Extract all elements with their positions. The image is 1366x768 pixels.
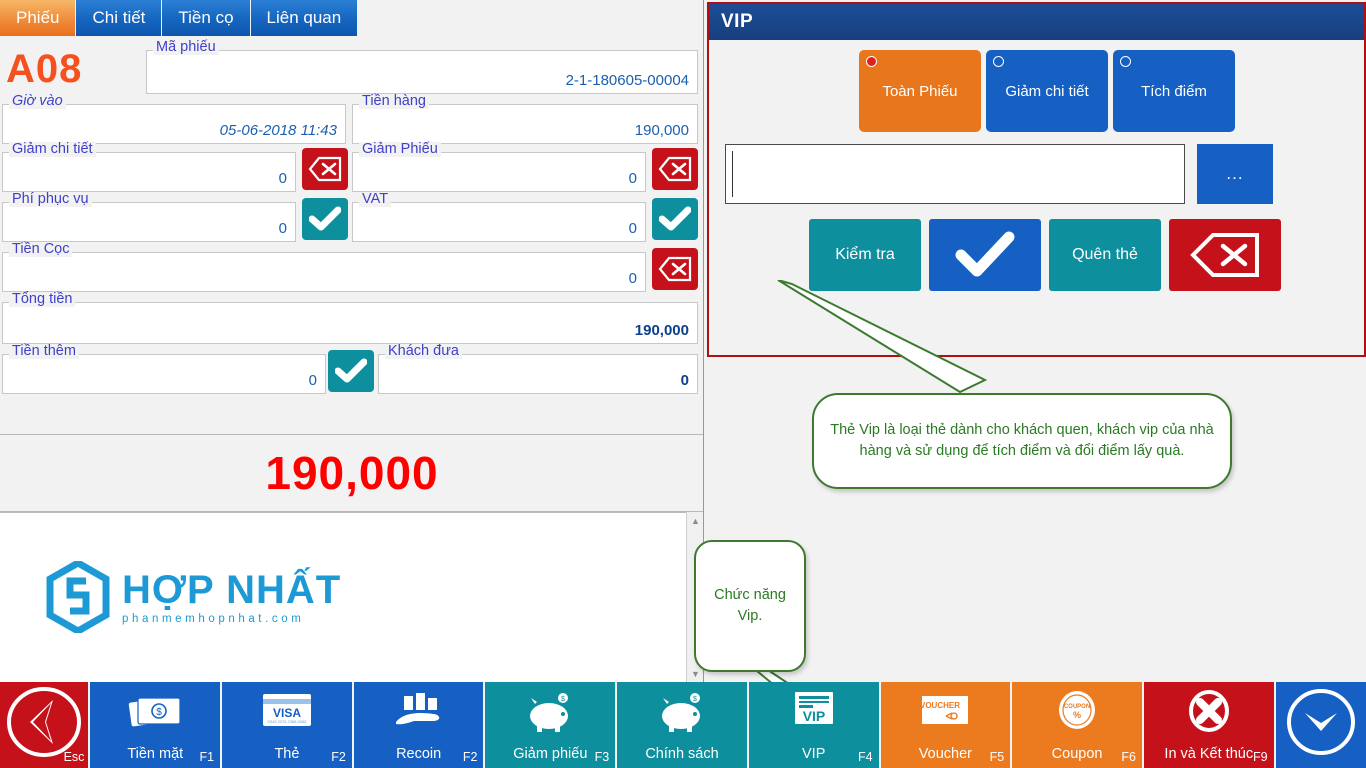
svg-text:$: $ <box>693 696 697 703</box>
field-value-phi-phuc-vu: 0 <box>279 220 287 237</box>
field-value-ma-phieu: 2-1-180605-00004 <box>566 72 689 89</box>
field-tien-coc[interactable]: Tiền Cọc 0 <box>2 252 646 292</box>
tab-lien-quan[interactable]: Liên quan <box>251 0 359 36</box>
field-label-tien-coc: Tiền Cọc <box>9 242 72 257</box>
vip-mode-label: Giảm chi tiết <box>1005 83 1088 100</box>
field-label-tien-hang: Tiền hàng <box>359 94 429 109</box>
svg-text:VOUCHER: VOUCHER <box>920 701 960 710</box>
field-label-giam-phieu: Giảm Phiếu <box>359 142 441 157</box>
callout-text: Thẻ Vip là loại thẻ dành cho khách quen,… <box>830 420 1214 462</box>
vip-forgot-card-label: Quên thẻ <box>1072 246 1138 264</box>
tab-label: Liên quan <box>267 8 342 28</box>
field-value-khach-dua: 0 <box>681 372 689 389</box>
toolbar-key: F2 <box>463 750 478 764</box>
check-icon <box>953 231 1017 279</box>
field-value-tien-hang: 190,000 <box>635 122 689 139</box>
toolbar-label: Giảm phiếu <box>513 746 587 762</box>
toolbar-button-chinh-sach[interactable]: $ Chính sách <box>617 682 749 768</box>
back-arrow-icon <box>5 685 83 759</box>
svg-text:VIP: VIP <box>802 708 825 724</box>
field-tien-them[interactable]: Tiền thêm 0 <box>2 354 326 394</box>
vip-browse-button[interactable]: ... <box>1197 144 1273 204</box>
field-tien-hang[interactable]: Tiền hàng 190,000 <box>352 104 698 144</box>
clear-x-icon <box>658 156 692 182</box>
company-logo: HỢP NHẤT phanmemhopnhat.com <box>46 561 341 633</box>
svg-text:$: $ <box>156 707 162 718</box>
ticket-form: A08 Mã phiếu 2-1-180605-00004 Giờ vào 05… <box>0 36 704 432</box>
field-giam-phieu[interactable]: Giảm Phiếu 0 <box>352 152 646 192</box>
toolbar-key: F3 <box>595 750 610 764</box>
vip-cancel-button[interactable] <box>1169 219 1281 291</box>
radio-unselected-icon <box>993 56 1004 67</box>
total-amount-value: 190,000 <box>265 446 438 500</box>
item-list-area: HỢP NHẤT phanmemhopnhat.com <box>0 512 704 682</box>
vip-check-button[interactable]: Kiểm tra <box>809 219 921 291</box>
toolbar-button-the[interactable]: VISA 5345 3376 2388 9065 Thẻ F2 <box>222 682 354 768</box>
toolbar-button-vip[interactable]: VIP VIP F4 <box>749 682 881 768</box>
toolbar-label: In và Kết thúc <box>1164 746 1253 762</box>
field-label-phi-phuc-vu: Phí phục vụ <box>9 192 92 207</box>
tab-tien-co[interactable]: Tiền cọ <box>162 0 250 36</box>
field-label-tong-tien: Tổng tiền <box>9 292 75 307</box>
field-gio-vao[interactable]: Giờ vào 05-06-2018 11:43 <box>2 104 346 144</box>
field-label-tien-them: Tiền thêm <box>9 344 79 359</box>
vip-mode-giam-chi-tiet[interactable]: Giảm chi tiết <box>986 50 1108 132</box>
confirm-tien-them-button[interactable] <box>328 350 374 392</box>
total-amount-bar: 190,000 <box>0 434 704 512</box>
check-icon <box>659 206 691 232</box>
vip-mode-tich-diem[interactable]: Tích điểm <box>1113 50 1235 132</box>
check-icon <box>335 358 367 384</box>
cancel-x-icon <box>1189 231 1261 279</box>
tab-phieu[interactable]: Phiếu <box>0 0 76 36</box>
close-circle-icon <box>1180 690 1238 732</box>
field-giam-chi-tiet[interactable]: Giảm chi tiết 0 <box>2 152 296 192</box>
svg-text:5345 3376 2388 9065: 5345 3376 2388 9065 <box>267 719 307 724</box>
field-value-vat: 0 <box>629 220 637 237</box>
app-root: phanmemhopnhat.com phanmemhopnhat phanme… <box>0 0 1366 768</box>
hand-coins-icon <box>390 690 448 732</box>
scroll-up-icon[interactable]: ▲ <box>687 512 704 529</box>
toolbar-label: Recoin <box>396 746 441 762</box>
vip-check-label: Kiểm tra <box>835 246 895 264</box>
field-label-gio-vao: Giờ vào <box>9 94 66 109</box>
field-value-tien-them: 0 <box>309 372 317 389</box>
piggy-bank-icon: $ <box>653 690 711 732</box>
clear-giam-chi-tiet-button[interactable] <box>302 148 348 190</box>
text-caret <box>732 151 733 197</box>
field-tong-tien: Tổng tiền 190,000 <box>2 302 698 344</box>
svg-text:%: % <box>1073 710 1081 720</box>
clear-giam-phieu-button[interactable] <box>652 148 698 190</box>
confirm-vat-button[interactable] <box>652 198 698 240</box>
vip-mode-label: Toàn Phiếu <box>882 83 957 100</box>
toolbar-key: F4 <box>858 750 873 764</box>
back-button[interactable]: Esc <box>0 682 90 768</box>
toolbar-label: Chính sách <box>645 746 718 762</box>
field-label-ma-phieu: Mã phiếu <box>153 40 219 55</box>
tab-label: Phiếu <box>16 8 59 28</box>
logo-name: HỢP NHẤT <box>122 569 341 611</box>
vip-mode-label: Tích điểm <box>1141 83 1207 100</box>
tab-chi-tiet[interactable]: Chi tiết <box>76 0 162 36</box>
toolbar-button-voucher[interactable]: VOUCHER Voucher F5 <box>881 682 1013 768</box>
piggy-bank-icon: $ <box>521 690 579 732</box>
vip-forgot-card-button[interactable]: Quên thẻ <box>1049 219 1161 291</box>
toolbar-label: Coupon <box>1052 746 1103 762</box>
field-label-giam-chi-tiet: Giảm chi tiết <box>9 142 96 157</box>
toolbar-key: F9 <box>1253 750 1268 764</box>
toolbar-button-tien-mat[interactable]: $ Tiền mặt F1 <box>90 682 222 768</box>
clear-x-icon <box>658 256 692 282</box>
callout-text: Chức năng Vip. <box>712 585 788 627</box>
field-khach-dua[interactable]: Khách đưa 0 <box>378 354 698 394</box>
confirm-phi-phuc-vu-button[interactable] <box>302 198 348 240</box>
vip-card-input[interactable] <box>725 144 1185 204</box>
field-label-vat: VAT <box>359 192 391 207</box>
vip-dialog: VIP Toàn Phiếu Giảm chi tiết Tích điểm .… <box>707 2 1366 357</box>
field-ma-phieu[interactable]: Mã phiếu 2-1-180605-00004 <box>146 50 698 94</box>
clear-tien-coc-button[interactable] <box>652 248 698 290</box>
field-label-khach-dua: Khách đưa <box>385 344 462 359</box>
hopnhat-logo-icon <box>46 561 110 633</box>
toolbar-label: VIP <box>802 746 825 762</box>
toolbar-key: F5 <box>990 750 1005 764</box>
callout-vip-description: Thẻ Vip là loại thẻ dành cho khách quen,… <box>812 393 1232 489</box>
field-value-giam-phieu: 0 <box>629 170 637 187</box>
toolbar-key: F6 <box>1121 750 1136 764</box>
toolbar-button-giam-phieu[interactable]: $ Giảm phiếu F3 <box>485 682 617 768</box>
radio-unselected-icon <box>1120 56 1131 67</box>
coupon-icon: COUPON % <box>1048 690 1106 732</box>
bottom-toolbar: Esc $ Tiền mặt F1 VISA 5345 3376 2388 90… <box>0 682 1366 768</box>
vip-card-icon: VIP <box>785 690 843 732</box>
ticket-number: A08 <box>6 46 82 92</box>
field-vat[interactable]: VAT 0 <box>352 202 646 242</box>
vip-dialog-header: VIP <box>709 4 1364 40</box>
tab-label: Tiền cọ <box>178 8 233 28</box>
toolbar-key: F1 <box>200 750 215 764</box>
back-key-label: Esc <box>64 750 85 764</box>
field-value-tong-tien: 190,000 <box>635 322 689 339</box>
toolbar-key: F2 <box>331 750 346 764</box>
ticket-panel: Phiếu Chi tiết Tiền cọ Liên quan A08 Mã … <box>0 0 704 682</box>
check-icon <box>309 206 341 232</box>
toolbar-button-recoin[interactable]: Recoin F2 <box>354 682 486 768</box>
ticket-tabs: Phiếu Chi tiết Tiền cọ Liên quan <box>0 0 358 36</box>
toolbar-button-in-va-ket-thuc[interactable]: In và Kết thúc F9 <box>1144 682 1276 768</box>
field-value-tien-coc: 0 <box>629 270 637 287</box>
vip-confirm-button[interactable] <box>929 219 1041 291</box>
chevron-down-icon <box>1285 687 1357 757</box>
field-value-gio-vao: 05-06-2018 11:43 <box>220 122 337 139</box>
toolbar-label: Tiền mặt <box>127 746 183 762</box>
toolbar-label: Thẻ <box>274 746 299 762</box>
vip-mode-toan-phieu[interactable]: Toàn Phiếu <box>859 50 981 132</box>
svg-text:VISA: VISA <box>273 706 301 720</box>
radio-selected-icon <box>866 56 877 67</box>
field-phi-phuc-vu[interactable]: Phí phục vụ 0 <box>2 202 296 242</box>
toolbar-label: Voucher <box>919 746 972 762</box>
cash-icon: $ <box>126 690 184 734</box>
vip-dialog-title: VIP <box>721 11 753 33</box>
clear-x-icon <box>308 156 342 182</box>
credit-card-icon: VISA 5345 3376 2388 9065 <box>258 690 316 732</box>
tab-label: Chi tiết <box>92 8 145 28</box>
expand-button[interactable] <box>1276 682 1366 768</box>
field-value-giam-chi-tiet: 0 <box>279 170 287 187</box>
callout-vip-function: Chức năng Vip. <box>694 540 806 672</box>
logo-website: phanmemhopnhat.com <box>122 613 341 625</box>
voucher-icon: VOUCHER <box>916 690 974 732</box>
toolbar-button-coupon[interactable]: COUPON % Coupon F6 <box>1012 682 1144 768</box>
svg-text:$: $ <box>561 696 565 703</box>
